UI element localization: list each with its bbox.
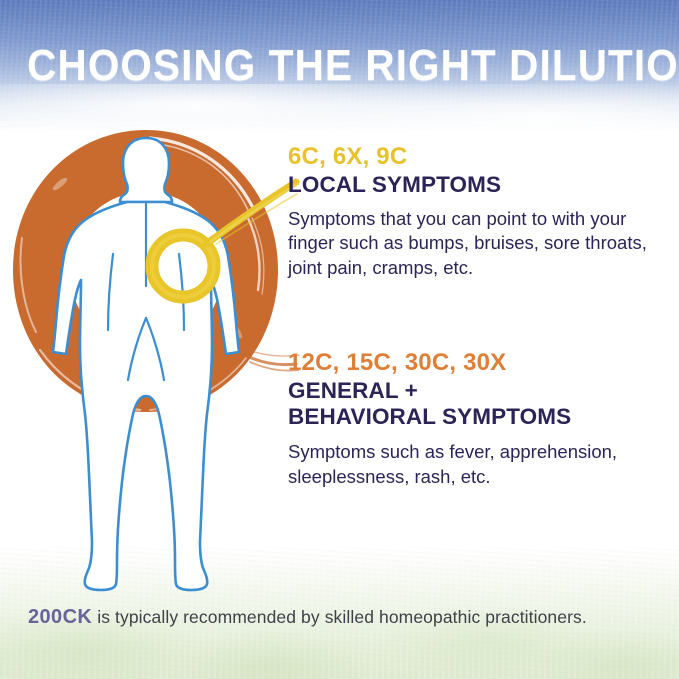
symptom-description-general: Symptoms such as fever, apprehension, sl… [288, 440, 660, 490]
page-title: CHOOSING THE RIGHT DILUTION [27, 44, 652, 88]
footer-note: 200CK is typically recommended by skille… [28, 606, 658, 629]
dilution-block-local: 6C, 6X, 9C LOCAL SYMPTOMS Symptoms that … [288, 144, 660, 281]
dilution-values-local: 6C, 6X, 9C [288, 144, 660, 171]
symptom-heading-general-line2: BEHAVIORAL SYMPTOMS [288, 404, 660, 430]
footer-dilution-value: 200CK [28, 606, 92, 628]
footer-note-text: is typically recommended by skilled home… [92, 607, 587, 627]
dilution-block-general: 12C, 15C, 30C, 30X GENERAL + BEHAVIORAL … [288, 350, 660, 490]
dilution-values-general: 12C, 15C, 30C, 30X [288, 350, 660, 377]
symptom-description-local: Symptoms that you can point to with your… [288, 207, 660, 281]
symptom-heading-general-line1: GENERAL + [288, 378, 660, 404]
infographic-poster: CHOOSING THE RIGHT DILUTION [0, 0, 679, 679]
symptom-heading-general: GENERAL + BEHAVIORAL SYMPTOMS [288, 378, 660, 429]
illustration-group [0, 118, 300, 618]
symptom-heading-local: LOCAL SYMPTOMS [288, 172, 660, 198]
